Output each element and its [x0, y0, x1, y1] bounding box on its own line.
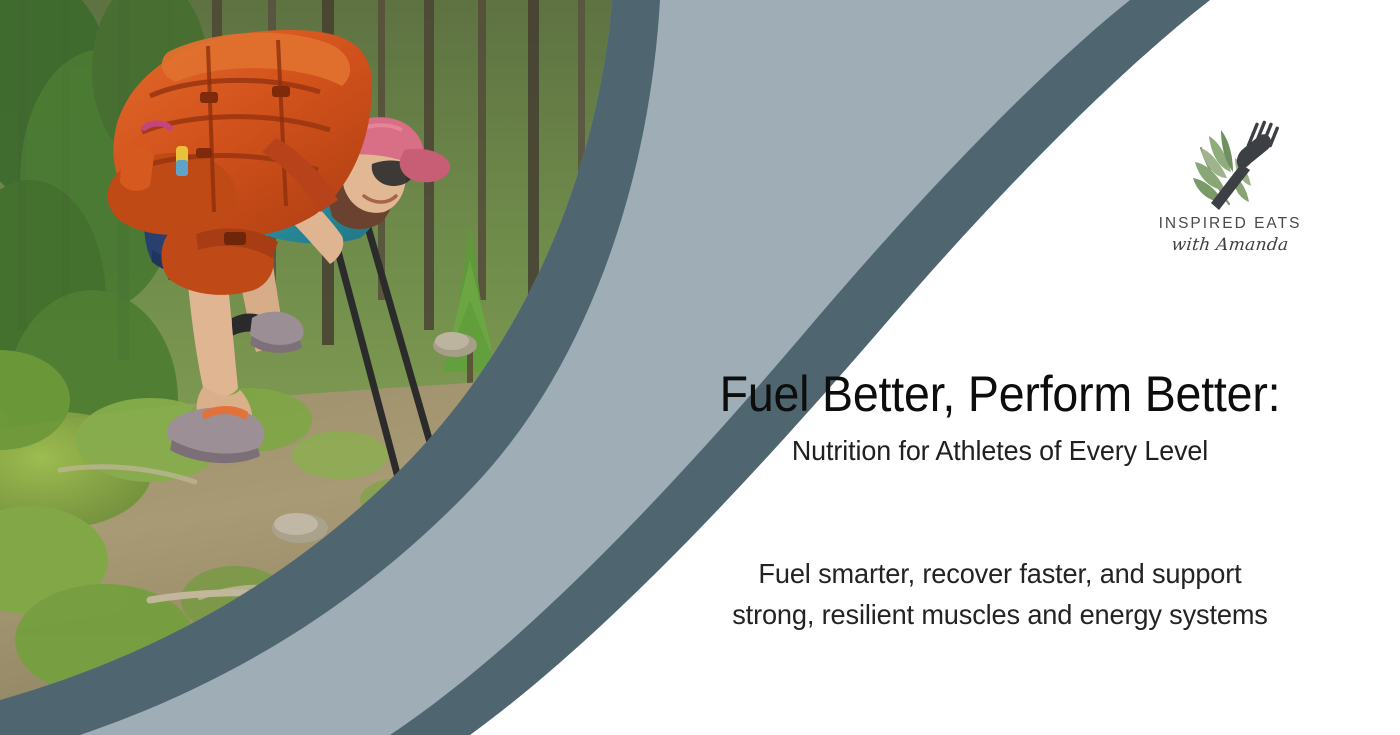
page-subtitle: Nutrition for Athletes of Every Level	[635, 435, 1365, 467]
hero-photo	[0, 0, 640, 680]
body-copy: Fuel smarter, recover faster, and suppor…	[620, 553, 1380, 636]
body-line-1: Fuel smarter, recover faster, and suppor…	[631, 553, 1368, 594]
fork-and-leaves-icon	[1175, 118, 1285, 214]
brand-logo[interactable]: INSPIRED EATS with Amanda	[1140, 118, 1320, 255]
slide-canvas: INSPIRED EATS with Amanda Fuel Better, P…	[0, 0, 1400, 735]
brand-name: INSPIRED EATS	[1140, 216, 1320, 232]
brand-tagline: with Amanda	[1139, 235, 1321, 255]
headline-block: Fuel Better, Perform Better: Nutrition f…	[620, 368, 1380, 467]
page-title: Fuel Better, Perform Better:	[647, 368, 1354, 421]
body-line-2: strong, resilient muscles and energy sys…	[631, 594, 1368, 635]
